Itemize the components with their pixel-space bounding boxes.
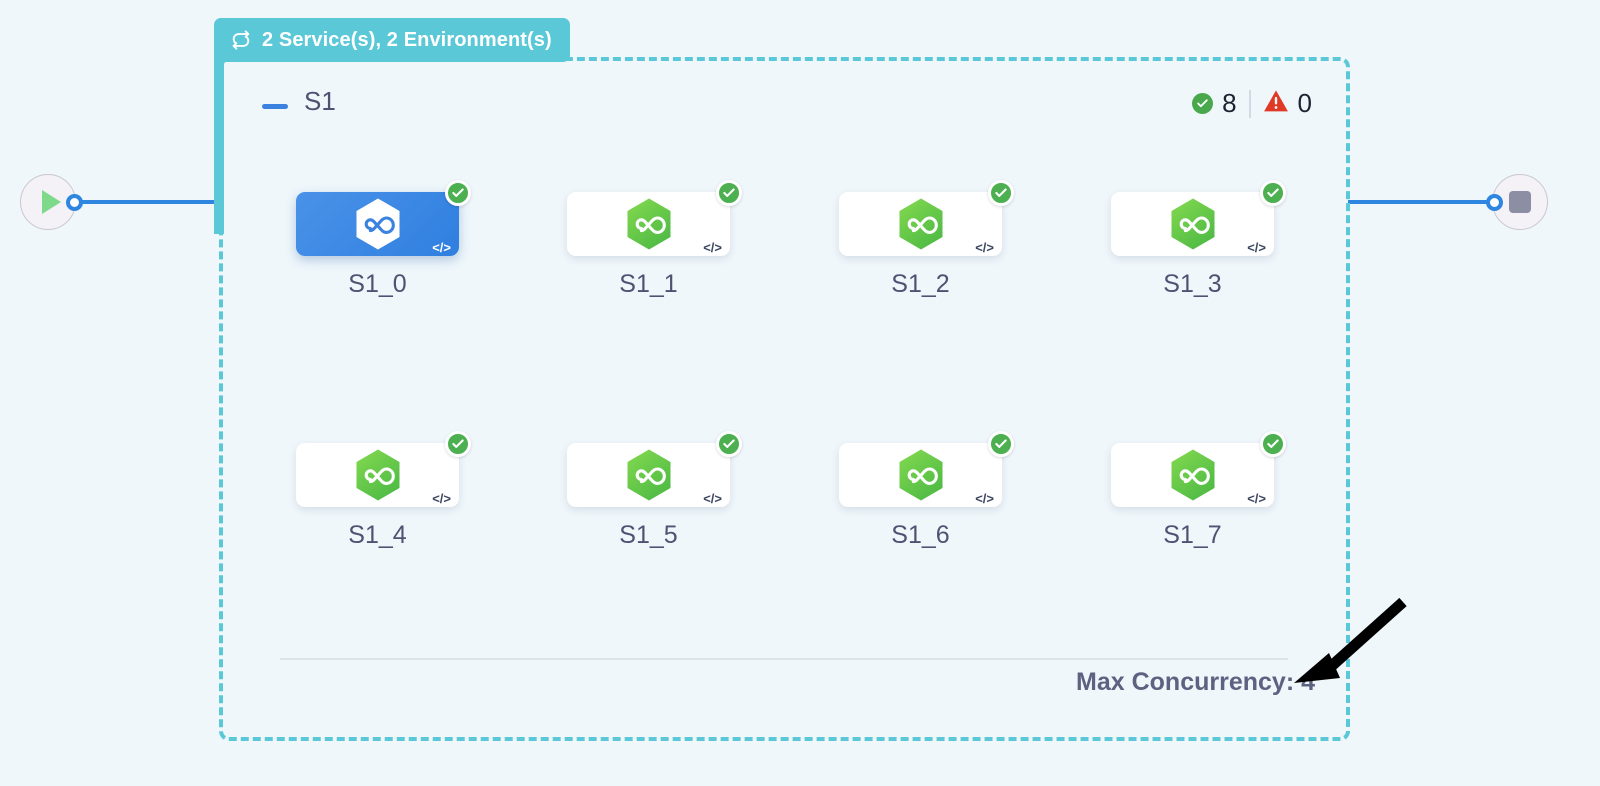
node-card[interactable]: </> <box>567 443 730 507</box>
code-icon: </> <box>1247 492 1266 505</box>
status-check-icon <box>988 180 1014 206</box>
node-s1-0[interactable]: </> S1_0 <box>296 192 459 256</box>
hexagon-infinity-icon <box>624 197 674 251</box>
hexagon-infinity-icon <box>896 197 946 251</box>
node-s1-1[interactable]: </> S1_1 <box>567 192 730 256</box>
status-check-icon <box>716 431 742 457</box>
node-label: S1_4 <box>296 521 459 550</box>
node-label: S1_3 <box>1111 270 1274 299</box>
check-circle-icon <box>1192 93 1213 114</box>
node-card[interactable]: </> <box>296 192 459 256</box>
group-spine <box>214 56 224 234</box>
node-label: S1_5 <box>567 521 730 550</box>
node-card[interactable]: </> <box>1111 192 1274 256</box>
success-counter: 8 <box>1192 88 1236 119</box>
group-badge-label: 2 Service(s), 2 Environment(s) <box>262 29 552 52</box>
warning-count: 0 <box>1298 88 1312 119</box>
group-container <box>219 57 1350 741</box>
collapse-toggle-minus-icon[interactable] <box>262 104 288 109</box>
status-check-icon <box>716 180 742 206</box>
node-label: S1_6 <box>839 521 1002 550</box>
node-s1-7[interactable]: </> S1_7 <box>1111 443 1274 507</box>
code-icon: </> <box>975 241 994 254</box>
max-concurrency-label: Max Concurrency: 4 <box>1076 668 1315 697</box>
code-icon: </> <box>703 241 722 254</box>
code-icon: </> <box>975 492 994 505</box>
hexagon-infinity-icon <box>1168 197 1218 251</box>
code-icon: </> <box>432 492 451 505</box>
node-s1-4[interactable]: </> S1_4 <box>296 443 459 507</box>
node-label: S1_2 <box>839 270 1002 299</box>
status-check-icon <box>1260 180 1286 206</box>
end-node-input-port[interactable] <box>1486 194 1503 211</box>
node-label: S1_7 <box>1111 521 1274 550</box>
code-icon: </> <box>432 241 451 254</box>
loop-icon <box>230 29 252 51</box>
node-label: S1_0 <box>296 270 459 299</box>
warning-triangle-icon <box>1263 89 1289 118</box>
node-card[interactable]: </> <box>296 443 459 507</box>
status-check-icon <box>445 180 471 206</box>
group-title: S1 <box>304 86 336 117</box>
warning-counter: 0 <box>1263 88 1312 119</box>
status-check-icon <box>1260 431 1286 457</box>
node-label: S1_1 <box>567 270 730 299</box>
hexagon-infinity-icon <box>1168 448 1218 502</box>
code-icon: </> <box>1247 241 1266 254</box>
start-node-output-port[interactable] <box>66 194 83 211</box>
node-card[interactable]: </> <box>839 192 1002 256</box>
hexagon-infinity-icon <box>353 197 403 251</box>
stop-icon <box>1509 191 1531 213</box>
node-card[interactable]: </> <box>1111 443 1274 507</box>
hexagon-infinity-icon <box>353 448 403 502</box>
hexagon-infinity-icon <box>896 448 946 502</box>
node-s1-2[interactable]: </> S1_2 <box>839 192 1002 256</box>
status-check-icon <box>988 431 1014 457</box>
node-s1-5[interactable]: </> S1_5 <box>567 443 730 507</box>
hexagon-infinity-icon <box>624 448 674 502</box>
status-check-icon <box>445 431 471 457</box>
node-s1-6[interactable]: </> S1_6 <box>839 443 1002 507</box>
success-count: 8 <box>1222 88 1236 119</box>
node-s1-3[interactable]: </> S1_3 <box>1111 192 1274 256</box>
counter-divider <box>1249 90 1251 118</box>
node-card[interactable]: </> <box>567 192 730 256</box>
group-header: S1 8 0 <box>262 92 1312 132</box>
footer-divider <box>280 658 1288 660</box>
play-icon <box>42 190 61 214</box>
node-card[interactable]: </> <box>839 443 1002 507</box>
status-counters: 8 0 <box>1192 88 1312 119</box>
edge-start-to-group <box>80 200 222 204</box>
workflow-canvas: 2 Service(s), 2 Environment(s) S1 8 <box>0 0 1600 786</box>
code-icon: </> <box>703 492 722 505</box>
edge-group-to-end <box>1348 200 1490 204</box>
group-badge[interactable]: 2 Service(s), 2 Environment(s) <box>214 18 570 62</box>
